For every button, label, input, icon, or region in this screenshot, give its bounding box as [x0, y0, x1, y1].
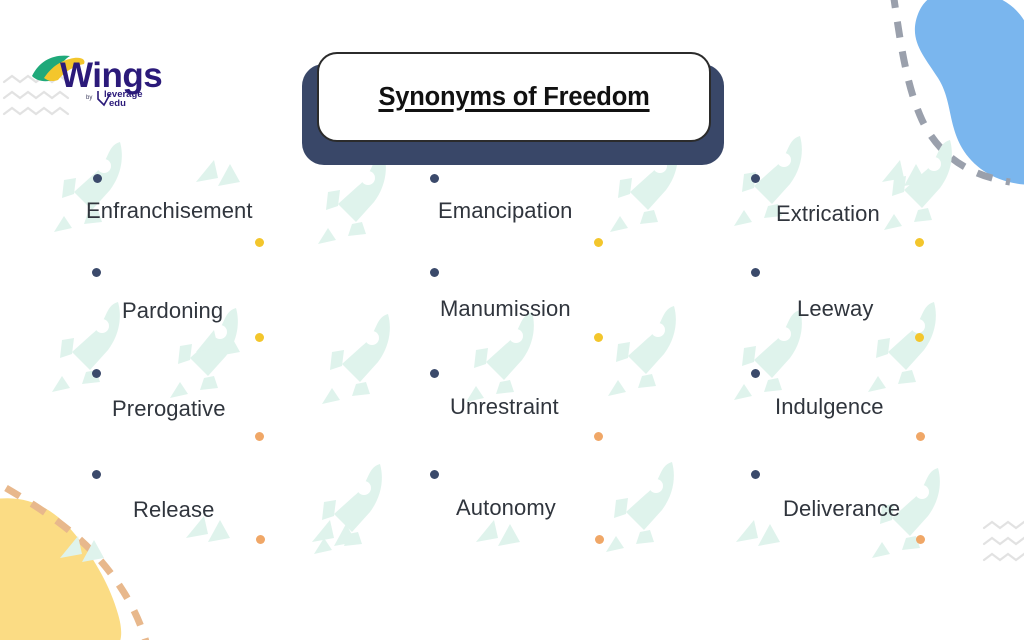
- bullet-dot: [751, 369, 760, 378]
- bullet-dot: [93, 174, 102, 183]
- synonym-label: Manumission: [440, 296, 571, 321]
- bullet-dot: [92, 470, 101, 479]
- accent-dot-yellow: [915, 333, 924, 342]
- synonym-item: Deliverance: [783, 496, 900, 522]
- accent-dot-yellow: [255, 238, 264, 247]
- synonym-label: Pardoning: [122, 298, 223, 323]
- synonym-label: Indulgence: [775, 394, 884, 419]
- synonym-label: Leeway: [797, 296, 873, 321]
- synonym-item: Autonomy: [456, 495, 556, 521]
- bullet-dot: [751, 268, 760, 277]
- accent-dot-orange: [256, 535, 265, 544]
- synonym-label: Autonomy: [456, 495, 556, 520]
- bullet-dot: [430, 369, 439, 378]
- accent-dot-orange: [594, 432, 603, 441]
- bullet-dot: [751, 470, 760, 479]
- synonym-item: Release: [133, 497, 214, 523]
- bullet-dot: [430, 268, 439, 277]
- synonym-item: Extrication: [776, 201, 880, 227]
- synonym-item: Enfranchisement: [86, 198, 253, 224]
- synonym-item: Indulgence: [775, 394, 884, 420]
- accent-dot-orange: [255, 432, 264, 441]
- accent-dot-yellow: [255, 333, 264, 342]
- bullet-dot: [92, 369, 101, 378]
- bullet-dot: [751, 174, 760, 183]
- bullet-dot: [430, 174, 439, 183]
- synonym-item: Leeway: [797, 296, 873, 322]
- synonym-label: Unrestraint: [450, 394, 559, 419]
- accent-dot-orange: [916, 432, 925, 441]
- synonym-item: Prerogative: [112, 396, 226, 422]
- synonym-label: Prerogative: [112, 396, 226, 421]
- infographic-canvas: Wings by leverage edu Synonyms of Freedo…: [0, 0, 1024, 640]
- bullet-dot: [92, 268, 101, 277]
- accent-dot-orange: [916, 535, 925, 544]
- synonym-label: Emancipation: [438, 198, 573, 223]
- accent-dot-orange: [595, 535, 604, 544]
- synonym-label: Deliverance: [783, 496, 900, 521]
- synonym-item: Manumission: [440, 296, 571, 322]
- accent-dot-yellow: [915, 238, 924, 247]
- synonym-item: Unrestraint: [450, 394, 559, 420]
- accent-dot-yellow: [594, 333, 603, 342]
- synonym-label: Extrication: [776, 201, 880, 226]
- synonym-label: Release: [133, 497, 214, 522]
- synonym-item: Pardoning: [122, 298, 223, 324]
- synonym-label: Enfranchisement: [86, 198, 253, 223]
- accent-dot-yellow: [594, 238, 603, 247]
- synonym-item: Emancipation: [438, 198, 573, 224]
- synonym-grid: EnfranchisementPardoningPrerogativeRelea…: [0, 0, 1024, 640]
- bullet-dot: [430, 470, 439, 479]
